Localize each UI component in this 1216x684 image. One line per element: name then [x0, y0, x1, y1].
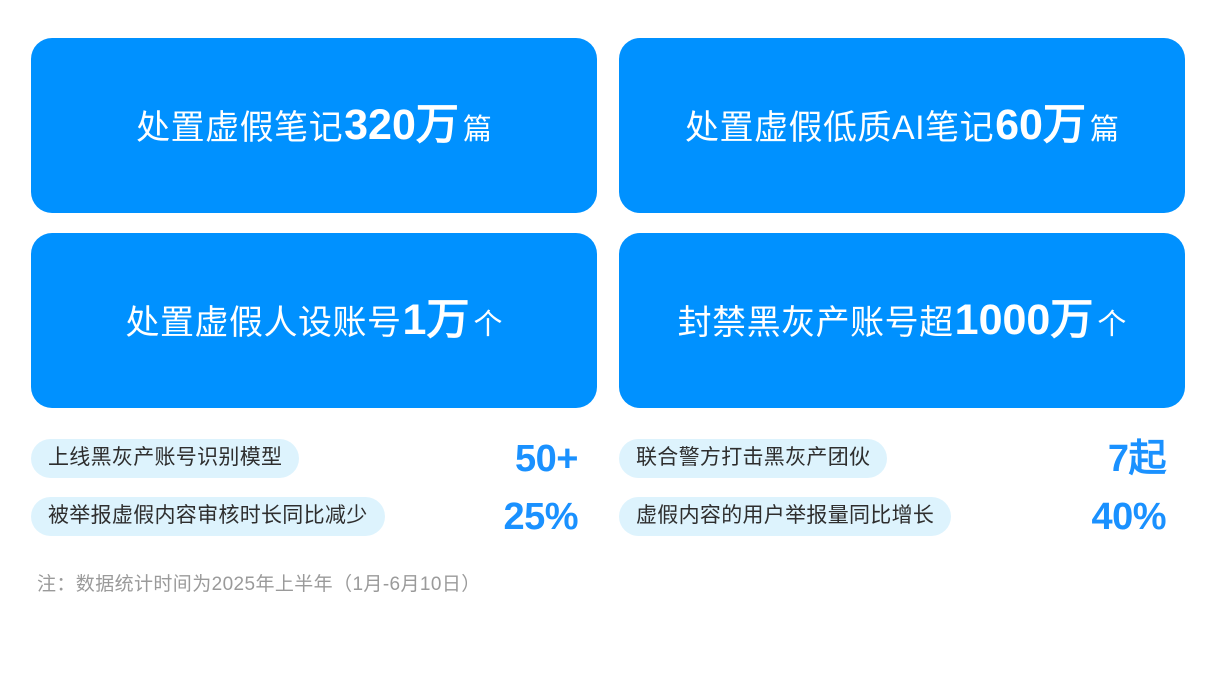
stat-row-user-reports-growth: 虚假内容的用户举报量同比增长 40% [619, 494, 1185, 539]
stat-row-review-time-reduction: 被举报虚假内容审核时长同比减少 25% [31, 494, 597, 539]
stat-row-label: 被举报虚假内容审核时长同比减少 [31, 497, 385, 536]
stat-row-label: 联合警方打击黑灰产团伙 [619, 439, 887, 478]
stat-card-label: 封禁黑灰产账号超 [678, 306, 954, 340]
stat-card-label: 处置虚假低质AI笔记 [685, 111, 994, 145]
stat-card-banned-blackgray-accounts: 封禁黑灰产账号超 1000万 个 [619, 233, 1185, 408]
stat-row-value: 50+ [515, 440, 597, 478]
stat-row-label: 虚假内容的用户举报量同比增长 [619, 497, 951, 536]
stat-card-unit: 个 [1094, 311, 1126, 340]
footnote: 注：数据统计时间为2025年上半年（1月-6月10日） [31, 569, 1185, 596]
stat-card-value: 320万 [343, 104, 460, 147]
stat-card-grid: 处置虚假笔记 320万 篇 处置虚假低质AI笔记 60万 篇 处置虚假人设账号 … [31, 38, 1185, 408]
stat-card-value: 1万 [402, 299, 471, 342]
stat-row-label: 上线黑灰产账号识别模型 [31, 439, 299, 478]
stat-card-fake-persona-accounts: 处置虚假人设账号 1万 个 [31, 233, 597, 408]
stat-card-fake-notes: 处置虚假笔记 320万 篇 [31, 38, 597, 213]
stat-card-line: 处置虚假低质AI笔记 60万 篇 [685, 104, 1119, 147]
stat-card-line: 封禁黑灰产账号超 1000万 个 [678, 299, 1127, 342]
stat-row-value: 40% [1091, 498, 1185, 536]
stat-row-grid: 上线黑灰产账号识别模型 50+ 联合警方打击黑灰产团伙 7起 被举报虚假内容审核… [31, 436, 1185, 539]
stat-card-unit: 个 [470, 311, 502, 340]
stat-card-low-quality-ai-notes: 处置虚假低质AI笔记 60万 篇 [619, 38, 1185, 213]
stat-card-line: 处置虚假人设账号 1万 个 [126, 299, 503, 342]
stat-card-line: 处置虚假笔记 320万 篇 [136, 104, 492, 147]
stat-card-label: 处置虚假笔记 [136, 111, 343, 145]
stat-card-unit: 篇 [460, 116, 492, 145]
stat-row-detection-models: 上线黑灰产账号识别模型 50+ [31, 436, 597, 481]
stat-row-police-operations: 联合警方打击黑灰产团伙 7起 [619, 436, 1185, 481]
stat-card-value: 1000万 [954, 299, 1095, 342]
stat-row-value: 7起 [1108, 440, 1185, 478]
stat-card-label: 处置虚假人设账号 [126, 306, 402, 340]
infographic-root: 处置虚假笔记 320万 篇 处置虚假低质AI笔记 60万 篇 处置虚假人设账号 … [0, 0, 1216, 684]
stat-card-unit: 篇 [1087, 116, 1119, 145]
stat-row-value: 25% [503, 498, 597, 536]
stat-card-value: 60万 [994, 104, 1087, 147]
